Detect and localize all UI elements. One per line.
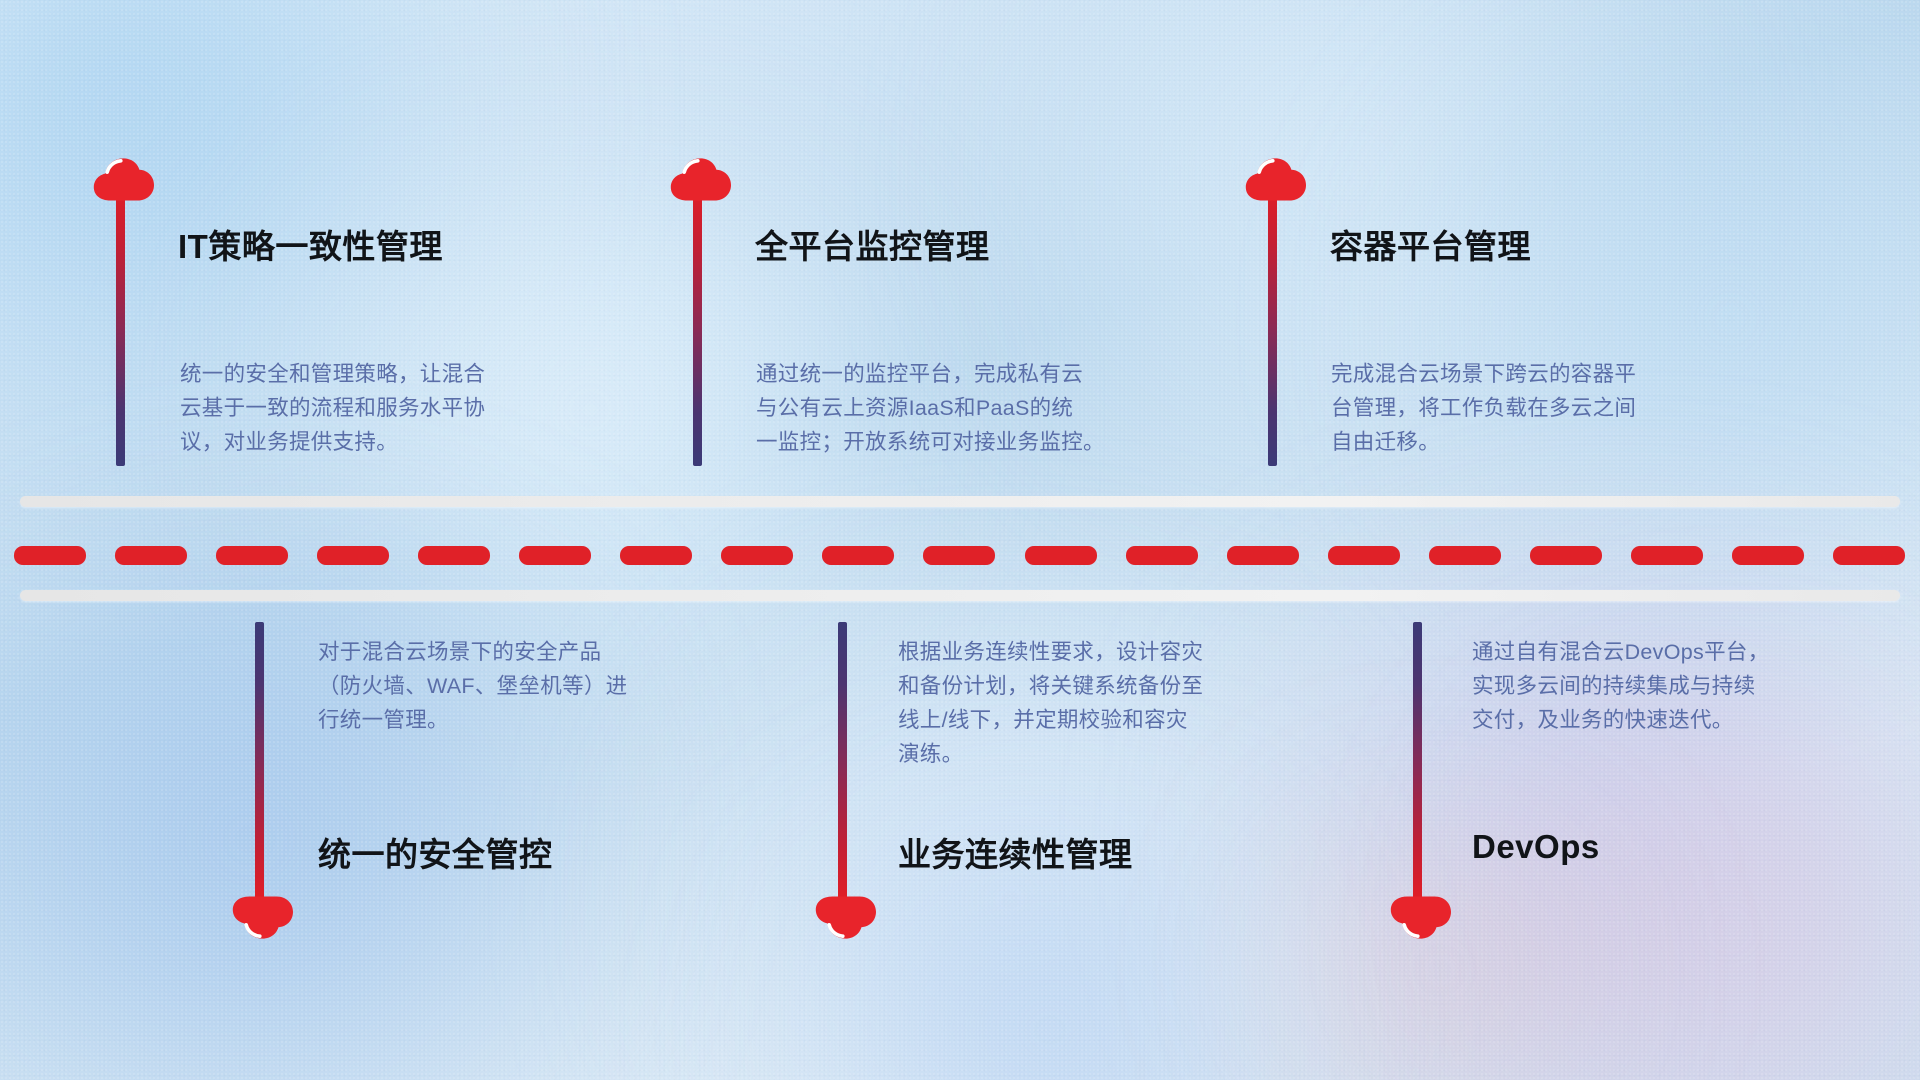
- road-dash-segment: [1429, 546, 1501, 565]
- cloud-icon: [815, 896, 877, 942]
- cloud-icon: [1390, 896, 1452, 942]
- column-title: 容器平台管理: [1330, 220, 1531, 268]
- cloud-icon: [1245, 155, 1307, 201]
- column-body: 通过自有混合云DevOps平台， 实现多云间的持续集成与持续 交付，及业务的快速…: [1472, 635, 1769, 737]
- column-title: 统一的安全管控: [318, 828, 553, 876]
- road-dash-segment: [317, 546, 389, 565]
- road-dash-segment: [418, 546, 490, 565]
- column-body: 统一的安全和管理策略，让混合 云基于一致的流程和服务水平协 议，对业务提供支持。: [180, 357, 485, 459]
- body-line: 和备份计划，将关键系统备份至: [898, 669, 1203, 703]
- body-line: 一监控；开放系统可对接业务监控。: [756, 425, 1105, 459]
- body-line: 云基于一致的流程和服务水平协: [180, 391, 485, 425]
- road-dash-segment: [115, 546, 187, 565]
- road-dash-segment: [1530, 546, 1602, 565]
- column-title: 全平台监控管理: [755, 220, 990, 268]
- body-line: 根据业务连续性要求，设计容灾: [898, 635, 1203, 669]
- body-line: 通过自有混合云DevOps平台，: [1472, 635, 1769, 669]
- body-line: （防火墙、WAF、堡垒机等）进: [318, 669, 627, 703]
- road-dash-segment: [1833, 546, 1905, 565]
- road-dash-segment: [1328, 546, 1400, 565]
- body-line: 台管理，将工作负载在多云之间: [1331, 391, 1636, 425]
- road-dash-segment: [923, 546, 995, 565]
- body-line: 与公有云上资源IaaS和PaaS的统: [756, 391, 1105, 425]
- road-dash-segment: [1126, 546, 1198, 565]
- road-dash-segment: [1732, 546, 1804, 565]
- column-body: 对于混合云场景下的安全产品 （防火墙、WAF、堡垒机等）进 行统一管理。: [318, 635, 627, 737]
- cloud-icon: [232, 896, 294, 942]
- road-dash-segment: [14, 546, 86, 565]
- cloud-icon: [93, 155, 155, 201]
- road-dash-segment: [822, 546, 894, 565]
- body-line: 完成混合云场景下跨云的容器平: [1331, 357, 1636, 391]
- column-body: 通过统一的监控平台，完成私有云 与公有云上资源IaaS和PaaS的统 一监控；开…: [756, 357, 1105, 459]
- column-body: 完成混合云场景下跨云的容器平 台管理，将工作负载在多云之间 自由迁移。: [1331, 357, 1636, 459]
- pin-stem: [116, 183, 125, 466]
- column-title: DevOps: [1472, 828, 1600, 866]
- body-line: 统一的安全和管理策略，让混合: [180, 357, 485, 391]
- body-line: 行统一管理。: [318, 703, 627, 737]
- pin-stem: [1413, 622, 1422, 904]
- cloud-icon: [670, 155, 732, 201]
- road-dash-segment: [1227, 546, 1299, 565]
- body-line: 交付，及业务的快速迭代。: [1472, 703, 1769, 737]
- pin-stem: [838, 622, 847, 904]
- body-line: 线上/线下，并定期校验和容灾: [898, 703, 1203, 737]
- column-title: 业务连续性管理: [898, 828, 1133, 876]
- pin-stem: [255, 622, 264, 904]
- body-line: 议，对业务提供支持。: [180, 425, 485, 459]
- road-dash-segment: [1025, 546, 1097, 565]
- body-line: 实现多云间的持续集成与持续: [1472, 669, 1769, 703]
- pin-stem: [1268, 183, 1277, 466]
- road-dash-segment: [721, 546, 793, 565]
- pin-stem: [693, 183, 702, 466]
- road-center-dashes: [0, 546, 1920, 565]
- body-line: 通过统一的监控平台，完成私有云: [756, 357, 1105, 391]
- column-title: IT策略一致性管理: [178, 220, 443, 268]
- road-dash-segment: [1631, 546, 1703, 565]
- road-dash-segment: [519, 546, 591, 565]
- body-line: 演练。: [898, 737, 1203, 771]
- body-line: 自由迁移。: [1331, 425, 1636, 459]
- road-edge-top: [20, 496, 1900, 507]
- road-dash-segment: [620, 546, 692, 565]
- road-dash-segment: [216, 546, 288, 565]
- column-body: 根据业务连续性要求，设计容灾 和备份计划，将关键系统备份至 线上/线下，并定期校…: [898, 635, 1203, 771]
- body-line: 对于混合云场景下的安全产品: [318, 635, 627, 669]
- road-edge-bottom: [20, 590, 1900, 601]
